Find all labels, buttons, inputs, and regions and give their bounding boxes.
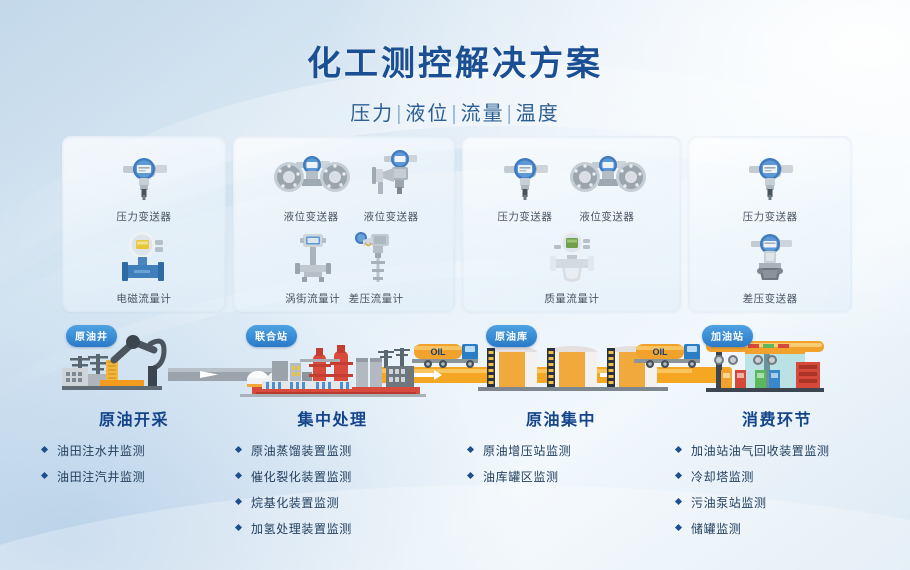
badge-gas-station[interactable]: 加油站 <box>702 325 753 347</box>
panel-row: 涡街流量计 <box>233 224 456 306</box>
panel-temperature: 压力变送器 <box>688 136 852 312</box>
stage-title: 原油开采 <box>36 406 232 430</box>
list-item: 油库罐区监测 <box>468 468 668 485</box>
bullet-diamond-icon <box>675 498 682 505</box>
page-subtitle: 压力|液位|流量|温度 <box>0 97 910 126</box>
badge-oil-depot[interactable]: 原油库 <box>486 325 537 347</box>
truck-label-2: OIL <box>653 347 669 357</box>
subtitle-separator: | <box>396 103 403 125</box>
pressure-transmitter-icon <box>739 148 801 204</box>
page-header: 化工测控解决方案 压力|液位|流量|温度 <box>0 36 910 126</box>
stage-descriptions: 原油开采 油田注水井监测 油田注汽井监测 集中处理 原油蒸馏装置监测 催化裂化装… <box>0 406 910 541</box>
panel-row: 压力变送器 <box>462 142 681 224</box>
product-label: 涡街流量计 <box>285 291 340 306</box>
subtitle-part-flow: 流量 <box>461 103 505 125</box>
list-item-label: 油田注汽井监测 <box>57 470 145 484</box>
stage-item-list: 原油增压站监测 油库罐区监测 <box>468 442 668 485</box>
product-vortex-flowmeter[interactable]: 涡街流量计 <box>285 224 341 306</box>
product-level-transmitter-side[interactable]: 液位变送器 <box>362 142 420 224</box>
gas-station-scene <box>706 341 824 392</box>
bullet-diamond-icon <box>235 524 242 531</box>
level-transmitter-flanged-icon <box>564 148 650 204</box>
product-label: 电磁流量计 <box>116 291 171 306</box>
panel-row: 压力变送器 <box>62 142 226 224</box>
product-label: 液位变送器 <box>579 209 634 224</box>
list-item: 污油泵站监测 <box>676 494 896 511</box>
stage-title: 消费环节 <box>658 406 896 430</box>
subtitle-part-temperature: 温度 <box>516 103 560 125</box>
list-item-label: 油库罐区监测 <box>483 470 559 484</box>
product-label: 压力变送器 <box>743 209 798 224</box>
bullet-diamond-icon <box>675 472 682 479</box>
stage-extraction: 原油开采 油田注水井监测 油田注汽井监测 <box>42 406 232 494</box>
truck-label-1: OIL <box>431 347 447 357</box>
subtitle-part-level: 液位 <box>405 103 449 125</box>
product-electromagnetic-flowmeter[interactable]: 电磁流量计 <box>112 224 176 306</box>
product-label: 压力变送器 <box>497 209 552 224</box>
product-panels: 压力变送器 <box>62 136 852 312</box>
tanker-truck-1: OIL <box>412 344 478 368</box>
stage-title: 集中处理 <box>214 406 451 430</box>
bullet-diamond-icon <box>41 472 48 479</box>
panel-row: 质量流量计 <box>462 224 681 306</box>
pressure-transmitter-icon <box>113 148 175 204</box>
electromagnetic-flowmeter-icon <box>112 230 176 286</box>
product-label: 差压流量计 <box>349 291 404 306</box>
level-transmitter-flanged-icon <box>268 148 354 204</box>
list-item-label: 烷基化装置监测 <box>251 496 339 510</box>
badge-oil-well[interactable]: 原油井 <box>66 325 117 347</box>
product-pressure-transmitter[interactable]: 压力变送器 <box>113 142 175 224</box>
vortex-flowmeter-icon <box>285 230 341 286</box>
list-item-label: 加氢处理装置监测 <box>251 522 352 536</box>
bullet-diamond-icon <box>235 446 242 453</box>
list-item-label: 油田注水井监测 <box>57 444 145 458</box>
level-transmitter-side-icon <box>362 148 420 204</box>
bullet-diamond-icon <box>467 472 474 479</box>
list-item: 烷基化装置监测 <box>236 494 451 511</box>
stage-gathering: 原油集中 原油增压站监测 油库罐区监测 <box>468 406 668 494</box>
panel-row: 压力变送器 <box>688 142 852 224</box>
list-item-label: 催化裂化装置监测 <box>251 470 352 484</box>
differential-pressure-transmitter-icon <box>739 230 801 286</box>
product-level-transmitter-flanged[interactable]: 液位变送器 <box>268 142 354 224</box>
subtitle-part-pressure: 压力 <box>350 103 394 125</box>
bullet-diamond-icon <box>235 498 242 505</box>
bullet-diamond-icon <box>467 446 474 453</box>
product-mass-flowmeter[interactable]: 质量流量计 <box>539 224 605 306</box>
list-item-label: 加油站油气回收装置监测 <box>691 444 830 458</box>
panel-row: 差压变送器 <box>688 224 852 306</box>
panel-row: 液位变送器 <box>233 142 456 224</box>
list-item: 加油站油气回收装置监测 <box>676 442 896 459</box>
product-label: 质量流量计 <box>544 291 599 306</box>
panel-row: 电磁流量计 <box>62 224 226 306</box>
subtitle-separator: | <box>507 103 514 125</box>
product-label: 差压变送器 <box>743 291 798 306</box>
stage-item-list: 原油蒸馏装置监测 催化裂化装置监测 烷基化装置监测 加氢处理装置监测 <box>236 442 451 537</box>
product-differential-pressure-flowmeter[interactable]: 差压流量计 <box>349 224 404 306</box>
panel-pressure: 压力变送器 <box>62 136 226 312</box>
list-item-label: 污油泵站监测 <box>691 496 767 510</box>
pressure-transmitter-icon <box>494 148 556 204</box>
mass-flowmeter-icon <box>539 230 605 286</box>
list-item-label: 原油增压站监测 <box>483 444 571 458</box>
list-item: 油田注汽井监测 <box>42 468 232 485</box>
stage-item-list: 油田注水井监测 油田注汽井监测 <box>42 442 232 485</box>
stage-title: 原油集中 <box>454 406 668 430</box>
stage-consumption: 消费环节 加油站油气回收装置监测 冷却塔监测 污油泵站监测 储罐监测 <box>676 406 896 546</box>
subtitle-separator: | <box>451 103 458 125</box>
list-item: 原油蒸馏装置监测 <box>236 442 451 459</box>
stage-item-list: 加油站油气回收装置监测 冷却塔监测 污油泵站监测 储罐监测 <box>676 442 896 537</box>
product-pressure-transmitter-3[interactable]: 压力变送器 <box>739 142 801 224</box>
list-item-label: 原油蒸馏装置监测 <box>251 444 352 458</box>
list-item-label: 冷却塔监测 <box>691 470 754 484</box>
list-item: 储罐监测 <box>676 520 896 537</box>
page-title: 化工测控解决方案 <box>0 36 910 85</box>
bullet-diamond-icon <box>675 524 682 531</box>
process-flow-illustration: OIL <box>0 318 910 418</box>
product-level-transmitter-flanged-2[interactable]: 液位变送器 <box>564 142 650 224</box>
list-item: 加氢处理装置监测 <box>236 520 451 537</box>
stage-processing: 集中处理 原油蒸馏装置监测 催化裂化装置监测 烷基化装置监测 加氢处理装置监测 <box>236 406 451 546</box>
product-label: 压力变送器 <box>116 209 171 224</box>
bullet-diamond-icon <box>41 446 48 453</box>
list-item: 催化裂化装置监测 <box>236 468 451 485</box>
product-label: 液位变送器 <box>284 209 339 224</box>
product-differential-pressure-transmitter[interactable]: 差压变送器 <box>739 224 801 306</box>
product-pressure-transmitter-2[interactable]: 压力变送器 <box>494 142 556 224</box>
panel-flow: 压力变送器 <box>462 136 681 312</box>
differential-pressure-flowmeter-icon <box>349 230 403 286</box>
list-item: 冷却塔监测 <box>676 468 896 485</box>
list-item: 原油增压站监测 <box>468 442 668 459</box>
bullet-diamond-icon <box>235 472 242 479</box>
badge-gathering-station[interactable]: 联合站 <box>246 325 297 347</box>
bullet-diamond-icon <box>675 446 682 453</box>
list-item: 油田注水井监测 <box>42 442 232 459</box>
list-item-label: 储罐监测 <box>691 522 741 536</box>
panel-level: 液位变送器 <box>233 136 456 312</box>
product-label: 液位变送器 <box>364 209 419 224</box>
